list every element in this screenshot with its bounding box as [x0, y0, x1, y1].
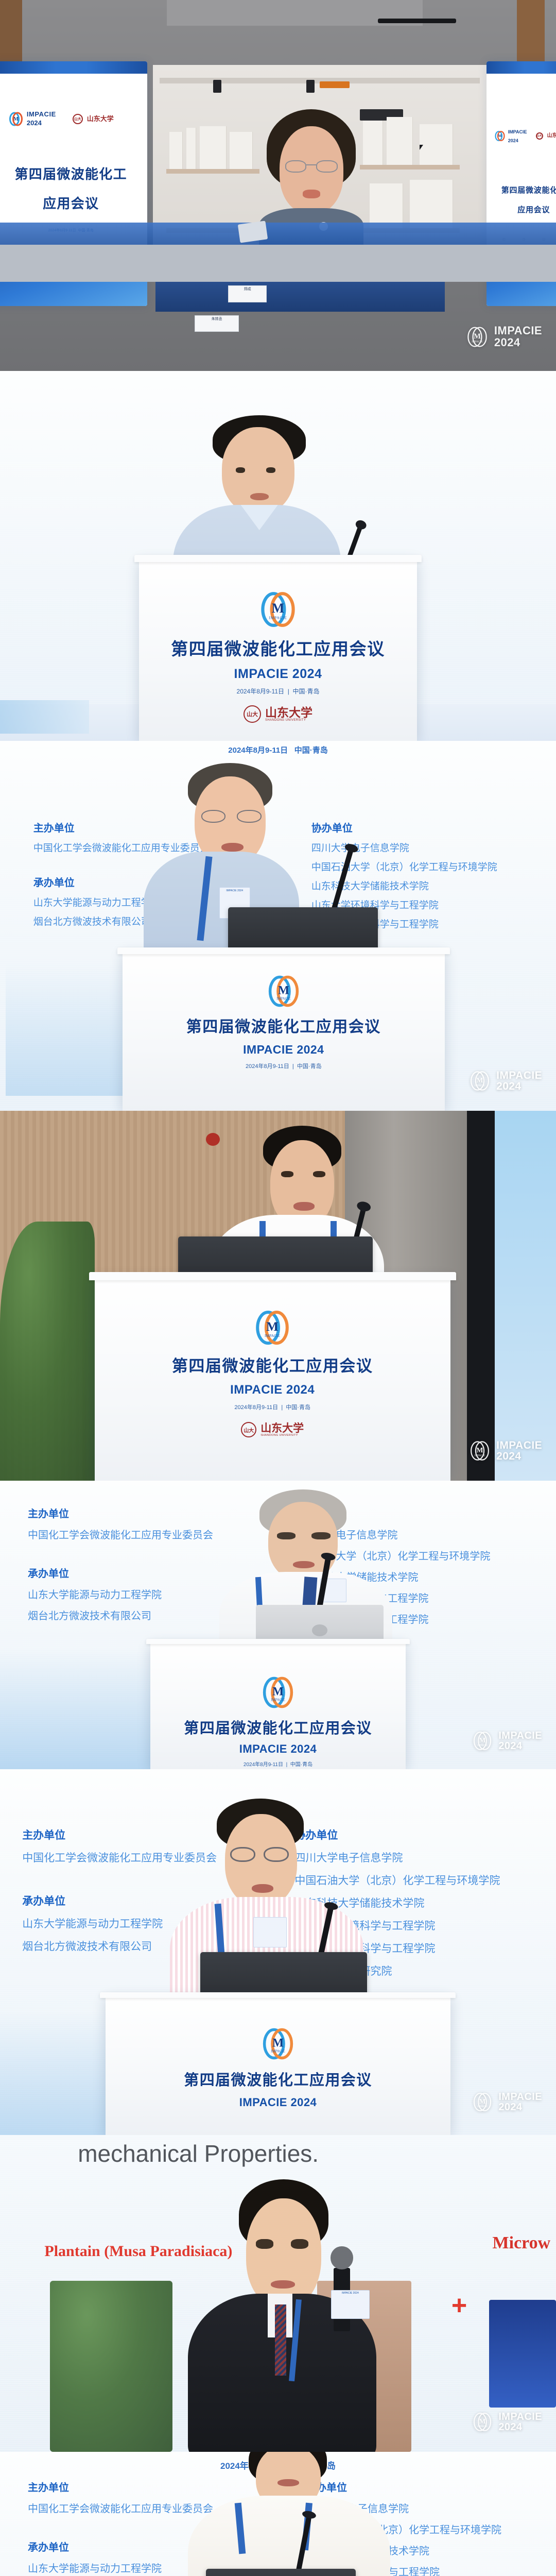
watermark-line2: 2024: [494, 336, 520, 349]
watermark: M IMPACIE IMPACIE 2024: [468, 1070, 542, 1092]
slide-host-item: 中国化工学会微波能化工应用专业委员会: [28, 1525, 213, 1546]
watermark: M IMPACIE IMPACIE 2024: [472, 2411, 542, 2433]
watermark-line1: IMPACIE: [498, 2411, 542, 2422]
banner-title-cn-line1: 第四届微波能化工: [486, 186, 556, 195]
banner-title-cn-line2: 应用会议: [486, 206, 556, 215]
watermark-line2: 2024: [496, 1080, 521, 1092]
svg-text:M: M: [474, 332, 481, 341]
svg-text:IMPACIE: IMPACIE: [478, 1744, 488, 1747]
smartphone: [238, 221, 268, 243]
banner-wordmark-line1: IMPACIE: [27, 110, 56, 118]
impacie-logo-icon: M IMPACIE: [261, 2027, 295, 2061]
slide-organizer-heading: 承办单位: [28, 2537, 213, 2558]
slide-host-block: 主办单位 中国化工学会微波能化工应用专业委员会 承办单位 山东大学能源与动力工程…: [28, 1504, 213, 1627]
svg-text:IMPACIE: IMPACIE: [265, 1333, 280, 1338]
speaker: [217, 2452, 361, 2576]
podium-title-en: IMPACIE 2024: [234, 667, 322, 682]
svg-text:IMPACIE: IMPACIE: [472, 341, 483, 344]
photo-item[interactable]: 2024年8月9-11日 中国·青岛 主办单位 中国化工学会微波能化工应用专业委…: [0, 741, 556, 1111]
city-skyline-graphic: [0, 1648, 155, 1769]
apple-logo-icon: [312, 1624, 327, 1636]
ceiling-light: [378, 19, 456, 23]
nameplate: 朱铧丞: [195, 315, 239, 332]
slide-host-block: 主办单位 中国化工学会微波能化工应用专业委员会 承办单位 山东大学能源与动力工程…: [28, 2478, 213, 2576]
photo-item[interactable]: mechanical Properties. Plantain (Musa Pa…: [0, 2135, 556, 2452]
conference-badge: [253, 1917, 287, 1948]
impacie-logo-icon: M: [8, 111, 24, 127]
svg-text:M: M: [266, 1320, 279, 1334]
mic-flag-badge: IMPACIE 2024: [331, 2290, 370, 2318]
impacie-watermark-icon: M IMPACIE: [472, 1730, 493, 1752]
podium: M IMPACIE 第四届微波能化工应用会议 IMPACIE 2024: [106, 1996, 450, 2135]
watermark-line2: 2024: [498, 2421, 522, 2433]
svg-text:IMPACIE: IMPACIE: [271, 2050, 285, 2054]
podium: M IMPACIE 第四届微波能化工应用会议 IMPACIE 2024 2024…: [123, 952, 445, 1111]
banner-logo-left: M IMPACIE 2024 山大 山东大学: [8, 110, 114, 128]
microwave-device-image: [489, 2300, 556, 2408]
slide-plantain-label: Plantain (Musa Paradisiaca): [44, 2243, 232, 2260]
svg-text:M: M: [479, 1736, 486, 1744]
university-seal-icon: 山大: [244, 705, 261, 723]
potted-plant: [0, 1222, 95, 1481]
shandong-university-logo: 山大 山东大学: [73, 114, 114, 124]
podium-meta: 2024年8月9-11日 | 中国·青岛: [234, 1403, 310, 1411]
podium-title-cn: 第四届微波能化工应用会议: [172, 1357, 373, 1376]
plantain-image: [50, 2281, 172, 2452]
watermark-line1: IMPACIE: [498, 2091, 542, 2103]
podium: M IMPACIE 第四届微波能化工应用会议 IMPACIE 2024 2024…: [139, 560, 417, 741]
impacie-logo-icon: M: [494, 130, 506, 142]
impacie-logo-icon: M IMPACIE: [254, 1309, 291, 1346]
university-name-cn: 山东大学: [265, 707, 312, 719]
podium: M IMPACIE 第四届微波能化工应用会议 IMPACIE 2024 2024…: [150, 1642, 406, 1769]
university-seal-icon: 山大: [241, 1422, 256, 1437]
slide-organizer-item: 山东大学能源与动力工程学院: [28, 2558, 213, 2576]
podium-title-en: IMPACIE 2024: [239, 1742, 317, 1756]
photo-item[interactable]: 主办单位 中国化工学会微波能化工应用专业委员会 承办单位 山东大学能源与动力工程…: [0, 1481, 556, 1769]
impacie-watermark-icon: M IMPACIE: [468, 1070, 491, 1092]
podium-title-en: IMPACIE 2024: [239, 2096, 317, 2109]
university-name-en: SHANDONG UNIVERSITY: [265, 719, 312, 722]
svg-text:M: M: [479, 2417, 486, 2425]
photo-item[interactable]: 主办单位 中国化工学会微波能化工应用专业委员会 承办单位 山东大学能源与动力工程…: [0, 1769, 556, 2135]
nameplate: 郑成: [228, 285, 267, 302]
mouse-cursor-icon: [420, 145, 425, 150]
svg-text:IMPACIE: IMPACIE: [475, 1454, 485, 1457]
svg-text:IMPACIE: IMPACIE: [478, 2106, 488, 2108]
slide-heading: mechanical Properties.: [78, 2140, 319, 2167]
impacie-watermark-icon: M IMPACIE: [465, 325, 489, 349]
watermark-line2: 2024: [496, 1450, 521, 1462]
watermark-line1: IMPACIE: [498, 1730, 542, 1741]
podium-meta: 2024年8月9-11日 | 中国·青岛: [246, 1062, 322, 1070]
svg-text:M: M: [272, 2036, 284, 2049]
watermark-line1: IMPACIE: [496, 1439, 542, 1451]
svg-text:M: M: [278, 984, 289, 997]
svg-text:M: M: [498, 133, 501, 138]
slide-organizer-item: 山东大学能源与动力工程学院: [28, 1585, 213, 1606]
slide-microwave-label: Microw: [493, 2233, 551, 2253]
podium-title-cn: 第四届微波能化工应用会议: [186, 1018, 381, 1036]
university-name: 山东大学: [87, 115, 114, 122]
shandong-university-logo: 山大 山东大学 SHANDONG UNIVERSITY: [244, 705, 312, 723]
svg-text:IMPACIE: IMPACIE: [271, 1699, 285, 1702]
watermark: M IMPACIE IMPACIE 2024: [465, 325, 542, 349]
banner-wordmark-line2: 2024: [27, 119, 42, 127]
watermark-line1: IMPACIE: [496, 1070, 542, 1081]
svg-text:IMPACIE: IMPACIE: [276, 997, 290, 1001]
podium-title-cn: 第四届微波能化工应用会议: [171, 639, 385, 659]
svg-text:M: M: [477, 1447, 483, 1454]
watermark: M IMPACIE IMPACIE 2024: [472, 1730, 542, 1752]
svg-text:M: M: [272, 1685, 284, 1698]
university-seal-icon: 山大: [536, 132, 543, 140]
laptop: [206, 2569, 356, 2576]
photo-item[interactable]: M IMPACIE 2024 山大 山东大学 第四届微波能化工 应用会议 202…: [0, 0, 556, 371]
impacie-logo-icon: M IMPACIE: [267, 974, 301, 1008]
banner-title-cn-line1: 第四届微波能化工: [0, 166, 147, 182]
photo-item[interactable]: M IMPACIE 第四届微波能化工应用会议 IMPACIE 2024 2024…: [0, 1111, 556, 1481]
slide-host-item: 中国化工学会微波能化工应用专业委员会: [28, 2499, 213, 2520]
slide-host-heading: 主办单位: [28, 1504, 213, 1525]
university-name-cn: 山东大学: [260, 1423, 304, 1434]
svg-text:M: M: [479, 2097, 486, 2105]
watermark-line2: 2024: [498, 1740, 522, 1752]
svg-text:IMPACIE: IMPACIE: [475, 1084, 485, 1087]
podium: M IMPACIE 第四届微波能化工应用会议 IMPACIE 2024 2024…: [95, 1277, 450, 1481]
shandong-university-logo: 山大 山东大学 SHANDONG UNIVERSITY: [241, 1422, 304, 1437]
slide-date-bar: 2024年8月9-11日 中国·青岛: [0, 744, 556, 755]
svg-text:IMPACIE: IMPACIE: [269, 615, 287, 620]
university-name-en: SHANDONG UNIVERSITY: [260, 1434, 304, 1437]
podium-title-cn: 第四届微波能化工应用会议: [184, 1720, 372, 1737]
impacie-watermark-icon: M IMPACIE: [472, 2411, 493, 2433]
podium-title-en: IMPACIE 2024: [243, 1043, 324, 1057]
necktie: [275, 2304, 286, 2376]
impacie-watermark-icon: M IMPACIE: [472, 2091, 493, 2113]
watermark-line2: 2024: [498, 2102, 522, 2113]
stage-floor: [0, 245, 556, 282]
slide-host-heading: 主办单位: [28, 2478, 213, 2499]
podium-meta: 2024年8月9-11日 | 中国·青岛: [237, 687, 320, 696]
svg-text:M: M: [13, 116, 19, 122]
slide-organizer-heading: 承办单位: [28, 1564, 213, 1585]
svg-text:M: M: [272, 601, 284, 616]
slide-plus-sign: +: [451, 2290, 467, 2321]
photo-item[interactable]: 2024年8月9-11日 中国·青岛 主办单位 中国化工学会微波能化工应用专业委…: [0, 2452, 556, 2576]
slide-organizer-item: 烟台北方微波技术有限公司: [28, 1606, 213, 1627]
podium-title-cn: 第四届微波能化工应用会议: [184, 2072, 372, 2089]
svg-text:IMPACIE: IMPACIE: [478, 2426, 488, 2428]
university-seal-icon: 山大: [73, 114, 83, 124]
impacie-logo-icon: M IMPACIE: [259, 590, 297, 629]
podium-title-en: IMPACIE 2024: [230, 1383, 315, 1397]
impacie-watermark-icon: M IMPACIE: [468, 1439, 491, 1462]
watermark-line1: IMPACIE: [494, 324, 542, 337]
photo-item[interactable]: M IMPACIE 第四届微波能化工应用会议 IMPACIE 2024 2024…: [0, 371, 556, 741]
photo-gallery: M IMPACIE 2024 山大 山东大学 第四届微波能化工 应用会议 202…: [0, 0, 556, 2576]
banner-title-cn-line2: 应用会议: [0, 196, 147, 212]
audience-table: [155, 282, 445, 312]
impacie-logo-icon: M IMPACIE: [261, 1675, 295, 1709]
podium-meta: 2024年8月9-11日 | 中国·青岛: [244, 1760, 312, 1768]
watermark: M IMPACIE IMPACIE 2024: [472, 2091, 542, 2113]
svg-text:M: M: [477, 1077, 483, 1084]
watermark: M IMPACIE IMPACIE 2024: [468, 1439, 542, 1462]
